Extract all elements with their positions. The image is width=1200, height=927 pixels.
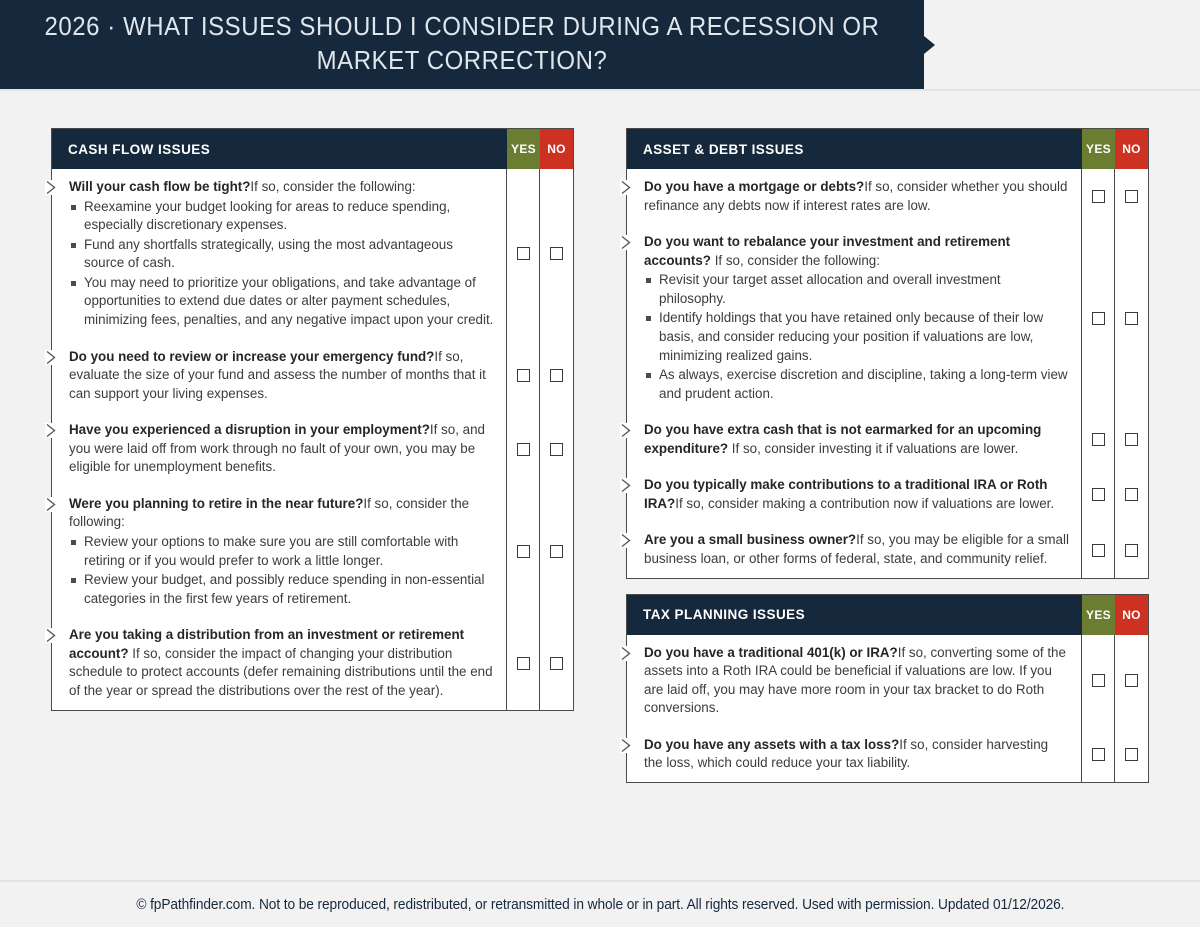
section-asset-debt-issues: ASSET & DEBT ISSUESYESNODo you have a mo… <box>626 128 1149 579</box>
no-checkbox-cell <box>1115 522 1148 577</box>
section-header: CASH FLOW ISSUESYESNO <box>52 129 573 169</box>
yes-checkbox[interactable] <box>517 369 530 382</box>
question-prompt: Do you have a traditional 401(k) or IRA? <box>644 645 898 660</box>
chevron-right-icon <box>620 235 633 250</box>
checklist-row: Do you have extra cash that is not earma… <box>627 412 1081 467</box>
question-prompt: Do you have a mortgage or debts? <box>644 179 864 194</box>
yes-checkbox-cell <box>1082 727 1114 782</box>
right-column: ASSET & DEBT ISSUESYESNODo you have a mo… <box>626 128 1149 798</box>
yes-checkbox[interactable] <box>1092 748 1105 761</box>
yes-checkbox-cell <box>507 169 539 339</box>
bullet-item: Reexamine your budget looking for areas … <box>69 198 495 235</box>
left-column: CASH FLOW ISSUESYESNOWill your cash flow… <box>51 128 574 726</box>
no-checkbox[interactable] <box>550 657 563 670</box>
no-checkbox[interactable] <box>550 247 563 260</box>
no-checkbox-column <box>1115 635 1148 782</box>
section-title: ASSET & DEBT ISSUES <box>627 129 1082 169</box>
section-title: TAX PLANNING ISSUES <box>627 595 1082 635</box>
yes-column-header: YES <box>507 129 540 169</box>
yes-checkbox[interactable] <box>517 247 530 260</box>
question-text: Do you typically make contributions to a… <box>644 476 1070 513</box>
no-checkbox-cell <box>1115 412 1148 467</box>
no-checkbox[interactable] <box>1125 544 1138 557</box>
no-checkbox[interactable] <box>1125 488 1138 501</box>
no-checkbox[interactable] <box>1125 433 1138 446</box>
no-checkbox[interactable] <box>1125 312 1138 325</box>
checklist-row: Are you a small business owner?If so, yo… <box>627 522 1081 577</box>
chevron-right-icon <box>620 646 633 661</box>
question-prompt: Have you experienced a disruption in you… <box>69 422 430 437</box>
section-title: CASH FLOW ISSUES <box>52 129 507 169</box>
no-checkbox[interactable] <box>550 443 563 456</box>
checklist-row: Do you want to rebalance your investment… <box>627 224 1081 412</box>
chevron-right-icon <box>45 497 58 512</box>
no-checkbox-cell <box>1115 224 1148 412</box>
question-text: Do you have extra cash that is not earma… <box>644 421 1070 458</box>
chevron-right-icon <box>620 738 633 753</box>
question-text: Do you have a mortgage or debts?If so, c… <box>644 178 1070 215</box>
bullet-item: Fund any shortfalls strategically, using… <box>69 236 495 273</box>
chevron-right-icon <box>620 423 633 438</box>
no-checkbox-cell <box>540 617 573 709</box>
chevron-right-icon <box>45 350 58 365</box>
question-list: Do you have a traditional 401(k) or IRA?… <box>627 635 1082 782</box>
no-checkbox-column <box>540 169 573 710</box>
question-prompt: Will your cash flow be tight? <box>69 179 250 194</box>
yes-column-header: YES <box>1082 129 1115 169</box>
question-prompt: Were you planning to retire in the near … <box>69 496 363 511</box>
checklist-row: Are you taking a distribution from an in… <box>52 617 506 709</box>
no-checkbox-cell <box>540 169 573 339</box>
checklist-row: Do you have a mortgage or debts?If so, c… <box>627 169 1081 224</box>
bullet-item: As always, exercise discretion and disci… <box>644 366 1070 403</box>
question-prompt: Do you need to review or increase your e… <box>69 349 434 364</box>
bullet-list: Review your options to make sure you are… <box>69 533 495 608</box>
yes-checkbox-column <box>507 169 540 710</box>
section-body: Do you have a mortgage or debts?If so, c… <box>627 169 1148 578</box>
section-cash-flow-issues: CASH FLOW ISSUESYESNOWill your cash flow… <box>51 128 574 711</box>
question-text: Do you have a traditional 401(k) or IRA?… <box>644 644 1070 718</box>
no-checkbox-cell <box>540 486 573 617</box>
no-checkbox[interactable] <box>1125 748 1138 761</box>
question-detail: If so, consider the following: <box>711 253 880 268</box>
no-column-header: NO <box>540 129 573 169</box>
yes-checkbox-cell <box>507 486 539 617</box>
no-checkbox[interactable] <box>1125 674 1138 687</box>
section-tax-planning-issues: TAX PLANNING ISSUESYESNODo you have a tr… <box>626 594 1149 783</box>
question-text: Are you a small business owner?If so, yo… <box>644 531 1070 568</box>
yes-checkbox[interactable] <box>1092 674 1105 687</box>
chevron-right-icon <box>45 628 58 643</box>
page-header: 2026 · WHAT ISSUES SHOULD I CONSIDER DUR… <box>0 0 924 89</box>
yes-checkbox[interactable] <box>1092 312 1105 325</box>
yes-checkbox[interactable] <box>1092 190 1105 203</box>
yes-column-header: YES <box>1082 595 1115 635</box>
question-detail: If so, consider making a contribution no… <box>675 496 1054 511</box>
question-detail: If so, consider investing it if valuatio… <box>728 441 1018 456</box>
no-checkbox[interactable] <box>550 545 563 558</box>
page-footer: © fpPathfinder.com. Not to be reproduced… <box>0 880 1200 927</box>
question-text: Do you have any assets with a tax loss?I… <box>644 736 1070 773</box>
checklist-row: Were you planning to retire in the near … <box>52 486 506 617</box>
no-checkbox-cell <box>1115 635 1148 727</box>
bullet-item: Review your budget, and possibly reduce … <box>69 571 495 608</box>
yes-checkbox-cell <box>1082 522 1114 577</box>
question-detail: If so, consider the following: <box>250 179 415 194</box>
yes-checkbox-column <box>1082 169 1115 578</box>
no-checkbox[interactable] <box>550 369 563 382</box>
yes-checkbox-cell <box>1082 467 1114 522</box>
no-checkbox-cell <box>540 339 573 413</box>
checklist-row: Do you typically make contributions to a… <box>627 467 1081 522</box>
yes-checkbox-cell <box>1082 224 1114 412</box>
bullet-item: You may need to prioritize your obligati… <box>69 274 495 330</box>
no-checkbox-cell <box>540 412 573 486</box>
question-text: Do you want to rebalance your investment… <box>644 233 1070 270</box>
chevron-right-icon <box>620 180 633 195</box>
checklist-row: Do you need to review or increase your e… <box>52 339 506 413</box>
checklist-row: Do you have a traditional 401(k) or IRA?… <box>627 635 1081 727</box>
copyright-text: © fpPathfinder.com. Not to be reproduced… <box>136 897 1064 913</box>
yes-checkbox-cell <box>1082 169 1114 224</box>
yes-checkbox-cell <box>507 412 539 486</box>
bullet-list: Revisit your target asset allocation and… <box>644 271 1070 403</box>
question-prompt: Are you a small business owner? <box>644 532 856 547</box>
section-body: Will your cash flow be tight?If so, cons… <box>52 169 573 710</box>
checklist-row: Will your cash flow be tight?If so, cons… <box>52 169 506 339</box>
chevron-right-icon <box>620 478 633 493</box>
question-text: Will your cash flow be tight?If so, cons… <box>69 178 495 197</box>
yes-checkbox[interactable] <box>517 443 530 456</box>
chevron-right-icon <box>45 180 58 195</box>
checklist-row: Have you experienced a disruption in you… <box>52 412 506 486</box>
checklist-row: Do you have any assets with a tax loss?I… <box>627 727 1081 782</box>
yes-checkbox-cell <box>507 339 539 413</box>
yes-checkbox[interactable] <box>1092 433 1105 446</box>
question-text: Are you taking a distribution from an in… <box>69 626 495 700</box>
yes-checkbox-cell <box>507 617 539 709</box>
question-detail: If so, consider the impact of changing y… <box>69 646 493 698</box>
header-divider <box>0 89 1200 91</box>
question-text: Were you planning to retire in the near … <box>69 495 495 532</box>
yes-checkbox[interactable] <box>1092 544 1105 557</box>
yes-checkbox-column <box>1082 635 1115 782</box>
no-checkbox-column <box>1115 169 1148 578</box>
yes-checkbox[interactable] <box>1092 488 1105 501</box>
section-body: Do you have a traditional 401(k) or IRA?… <box>627 635 1148 782</box>
no-column-header: NO <box>1115 595 1148 635</box>
bullet-item: Review your options to make sure you are… <box>69 533 495 570</box>
section-header: ASSET & DEBT ISSUESYESNO <box>627 129 1148 169</box>
question-list: Will your cash flow be tight?If so, cons… <box>52 169 507 710</box>
no-checkbox[interactable] <box>1125 190 1138 203</box>
page-title: 2026 · WHAT ISSUES SHOULD I CONSIDER DUR… <box>28 11 897 78</box>
yes-checkbox-cell <box>1082 635 1114 727</box>
question-text: Have you experienced a disruption in you… <box>69 421 495 477</box>
question-text: Do you need to review or increase your e… <box>69 348 495 404</box>
no-column-header: NO <box>1115 129 1148 169</box>
chevron-right-icon <box>45 423 58 438</box>
bullet-item: Identify holdings that you have retained… <box>644 309 1070 365</box>
bullet-item: Revisit your target asset allocation and… <box>644 271 1070 308</box>
question-list: Do you have a mortgage or debts?If so, c… <box>627 169 1082 578</box>
section-header: TAX PLANNING ISSUESYESNO <box>627 595 1148 635</box>
no-checkbox-cell <box>1115 727 1148 782</box>
yes-checkbox-cell <box>1082 412 1114 467</box>
yes-checkbox[interactable] <box>517 545 530 558</box>
bullet-list: Reexamine your budget looking for areas … <box>69 198 495 330</box>
yes-checkbox[interactable] <box>517 657 530 670</box>
no-checkbox-cell <box>1115 169 1148 224</box>
no-checkbox-cell <box>1115 467 1148 522</box>
chevron-right-icon <box>620 533 633 548</box>
question-prompt: Do you have any assets with a tax loss? <box>644 737 899 752</box>
